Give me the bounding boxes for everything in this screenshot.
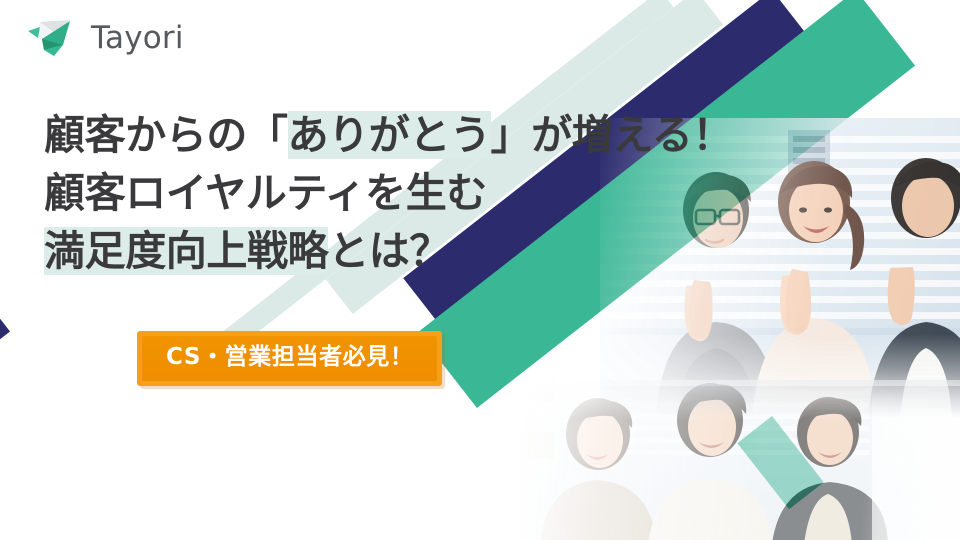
brand-name: Tayori bbox=[91, 23, 184, 54]
paper-plane-envelope-icon bbox=[26, 18, 82, 58]
headline-line1-prefix: 顧客からの「 bbox=[44, 111, 288, 159]
headline-line-1: 顧客からの「ありがとう」が増える！ bbox=[44, 106, 884, 164]
headline-line3-suffix: とは？ bbox=[328, 227, 450, 275]
headline-highlight-arigatou: ありがとう bbox=[288, 111, 491, 159]
slide-canvas: Tayori 顧客からの「ありがとう」が増える！ 顧客ロイヤルティを生む 満足度… bbox=[0, 0, 960, 540]
brand-logo[interactable]: Tayori bbox=[26, 18, 184, 58]
headline-line1-suffix: 」が増える！ bbox=[491, 111, 733, 159]
audience-badge[interactable]: CS・営業担当者必見！ bbox=[137, 331, 442, 386]
page-title: 顧客からの「ありがとう」が増える！ 顧客ロイヤルティを生む 満足度向上戦略とは？ bbox=[44, 106, 884, 280]
photo-office-team-seated-smiling bbox=[520, 372, 960, 540]
audience-badge-label: CS・営業担当者必見！ bbox=[142, 336, 437, 381]
headline-line-2: 顧客ロイヤルティを生む bbox=[44, 164, 884, 222]
headline-line-3: 満足度向上戦略とは？ bbox=[44, 222, 884, 280]
headline-highlight-strategy: 満足度向上戦略 bbox=[44, 227, 328, 275]
stripe-navy-2 bbox=[0, 270, 10, 540]
